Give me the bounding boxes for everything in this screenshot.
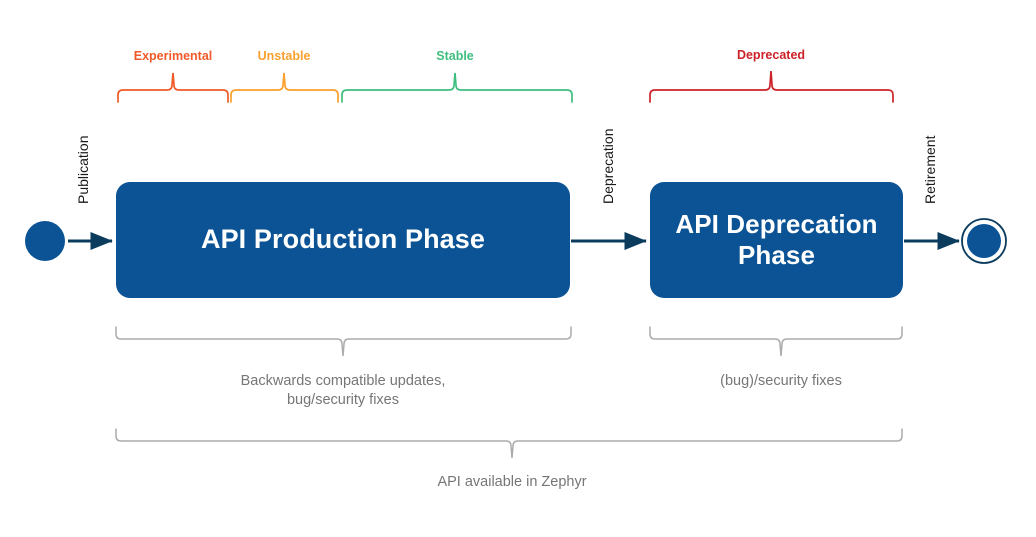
transition-label-retirement: Retirement [922, 136, 938, 204]
api-lifecycle-diagram: API Production Phase API Deprecation Pha… [0, 0, 1036, 537]
final-state-node[interactable] [967, 224, 1001, 258]
bracket-api-availability [116, 429, 902, 458]
bracket-unstable [231, 73, 338, 102]
bracket-label-deprecated: Deprecated [737, 48, 805, 62]
bracket-label-experimental: Experimental [134, 49, 213, 63]
bracket-label-api-availability: API available in Zephyr [437, 473, 586, 492]
production-support-line2: bug/security fixes [241, 391, 446, 410]
bracket-label-unstable: Unstable [258, 49, 311, 63]
initial-state-node[interactable] [25, 221, 65, 261]
transition-label-publication: Publication [75, 136, 91, 205]
phase-box-production[interactable]: API Production Phase [116, 182, 570, 298]
bracket-label-stable: Stable [436, 49, 474, 63]
bracket-deprecated [650, 71, 893, 102]
phase-box-production-label: API Production Phase [201, 224, 485, 256]
bracket-deprecation-support [650, 327, 902, 356]
bracket-production-support [116, 327, 571, 356]
bracket-label-production-support: Backwards compatible updates, bug/securi… [241, 372, 446, 410]
deprecation-support-line1: (bug)/security fixes [720, 372, 842, 391]
bracket-stable [342, 73, 572, 102]
bracket-label-deprecation-support: (bug)/security fixes [720, 372, 842, 391]
transition-label-deprecation: Deprecation [600, 129, 616, 205]
production-support-line1: Backwards compatible updates, [241, 372, 446, 391]
bracket-experimental [118, 73, 228, 102]
phase-box-deprecation-label: API Deprecation Phase [666, 209, 887, 270]
phase-box-deprecation[interactable]: API Deprecation Phase [650, 182, 903, 298]
